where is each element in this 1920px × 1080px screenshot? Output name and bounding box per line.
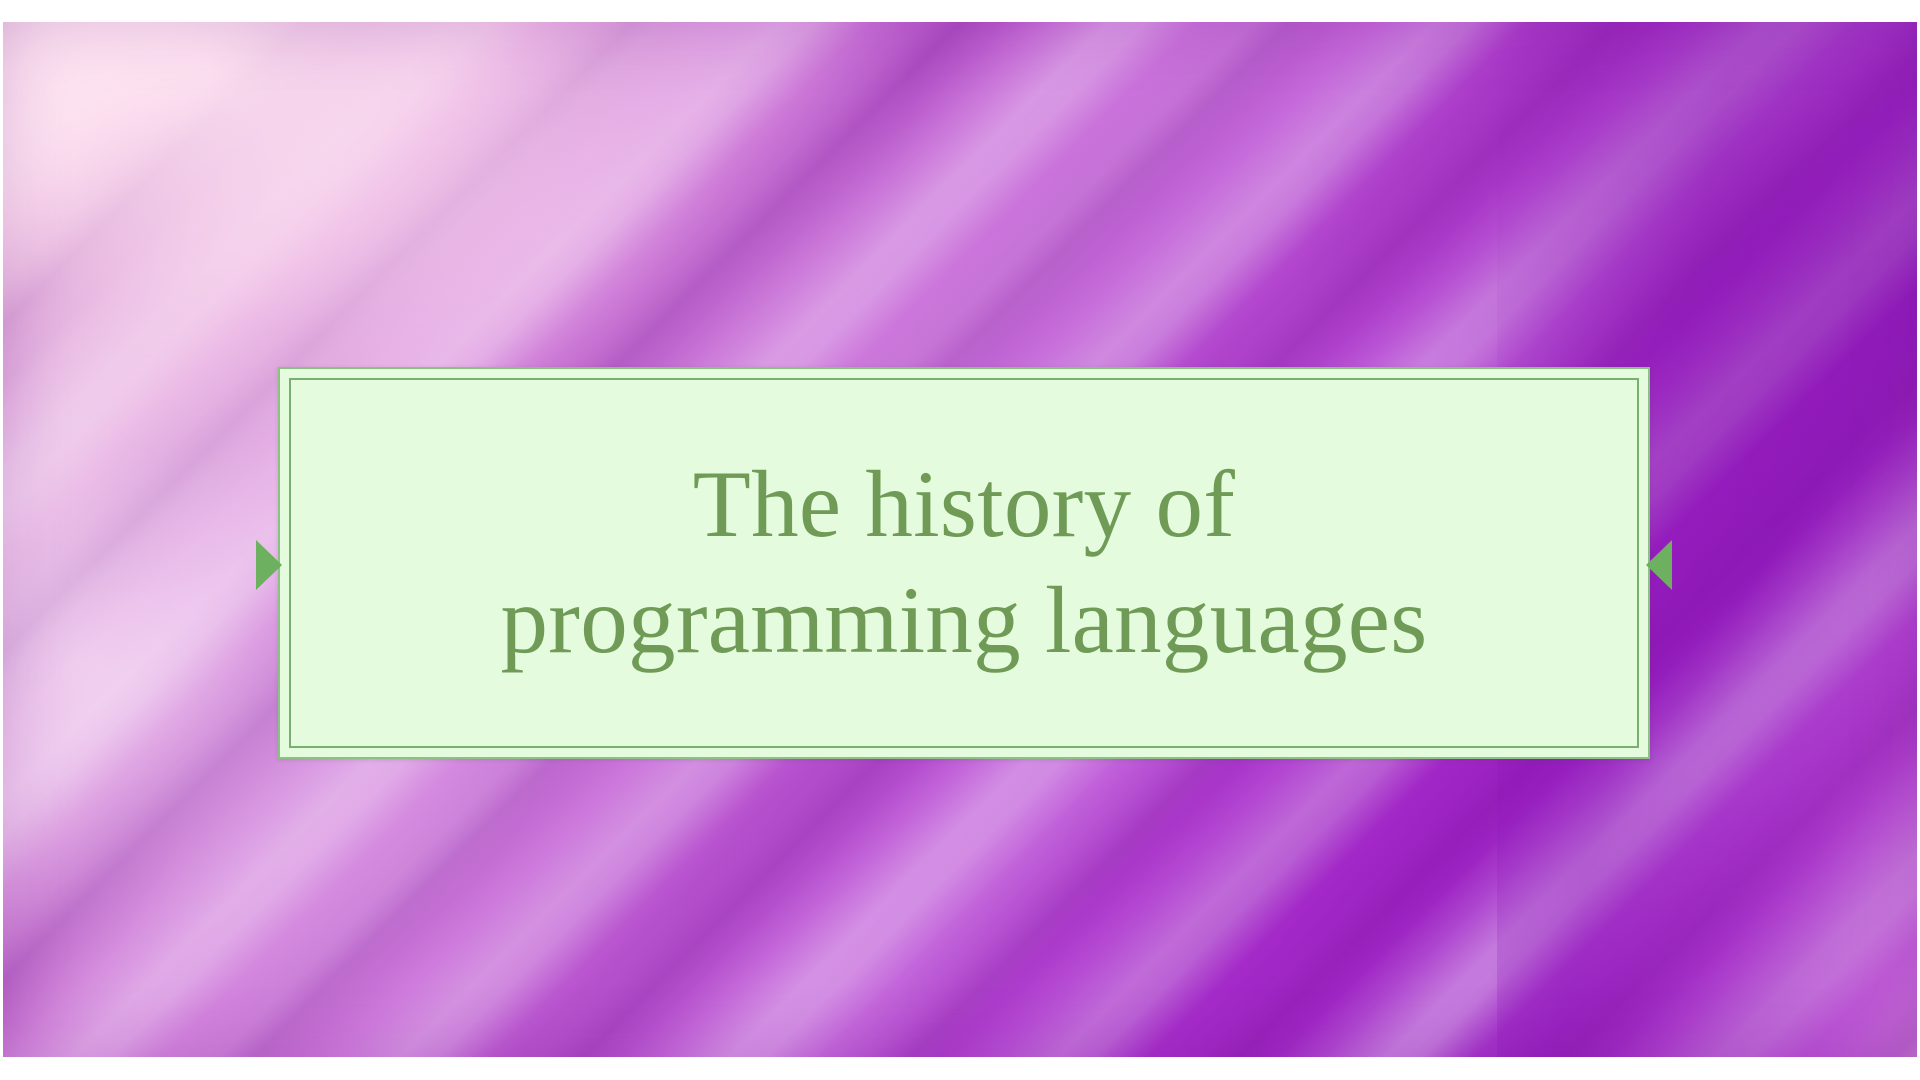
slide-title[interactable]: The history of programming languages: [291, 447, 1637, 679]
triangle-right-icon: [256, 540, 282, 590]
slide-canvas: The history of programming languages: [3, 22, 1917, 1057]
slide-frame: The history of programming languages: [0, 0, 1920, 1080]
triangle-left-icon: [1646, 540, 1672, 590]
title-box-inner-border: The history of programming languages: [289, 378, 1639, 748]
title-placeholder-box[interactable]: The history of programming languages: [278, 367, 1650, 759]
